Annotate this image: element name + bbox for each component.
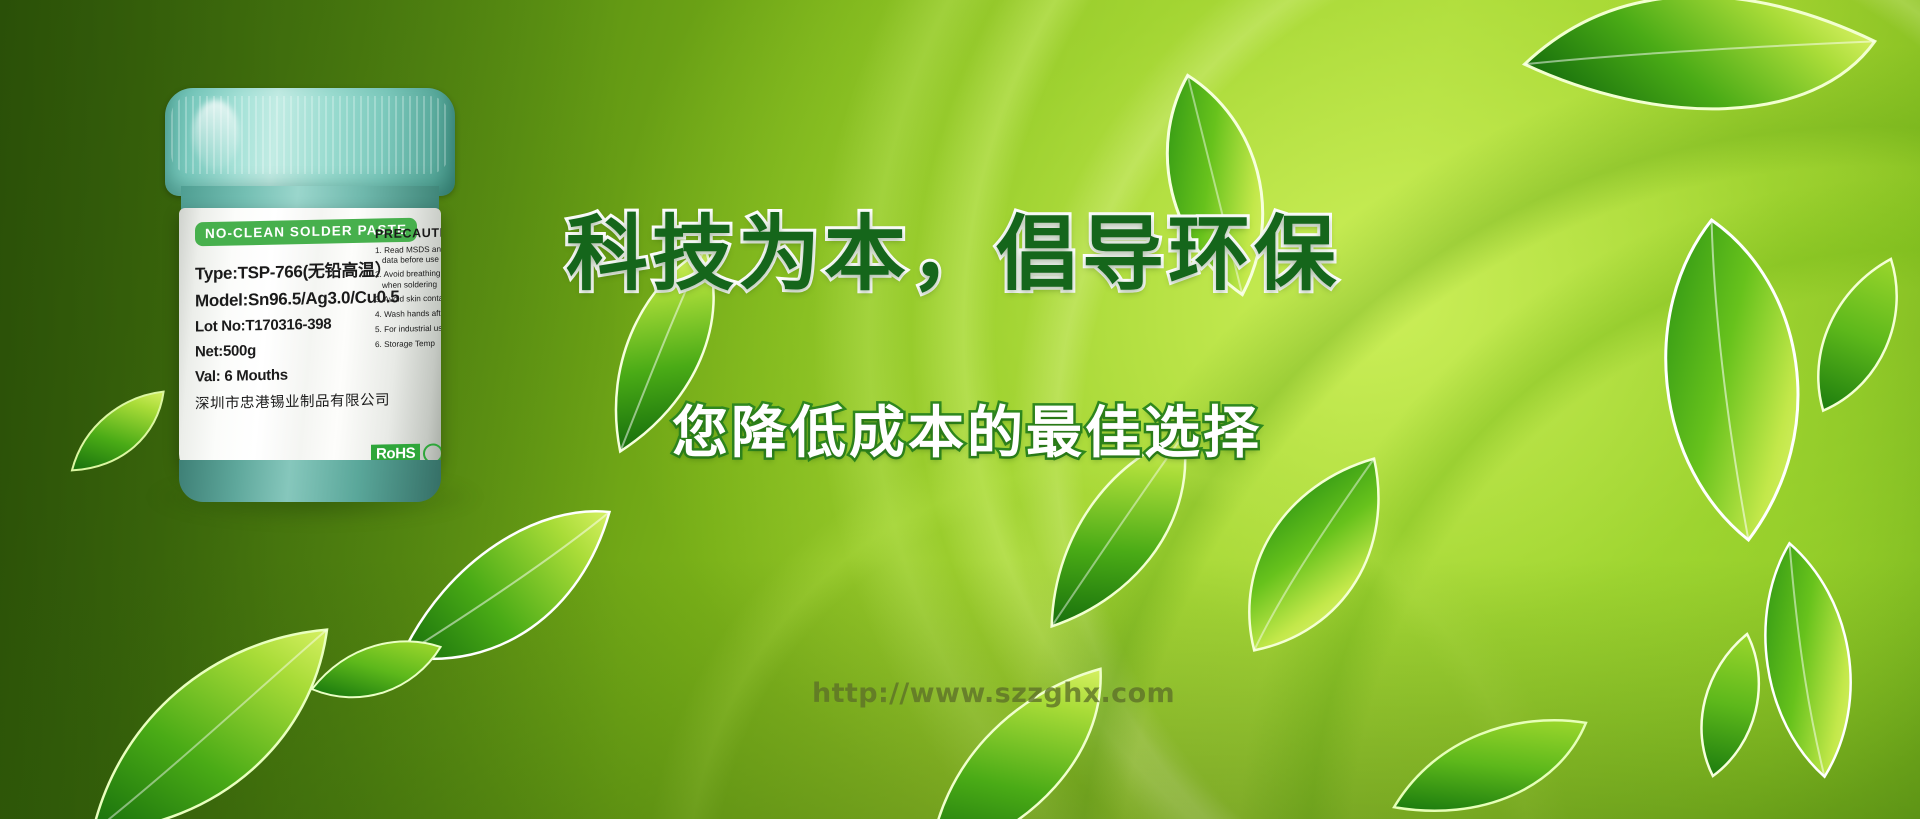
precaution-item: 2. Avoid breathing <box>375 268 441 281</box>
banner-subheadline: 您降低成本的最佳选择 <box>672 406 1262 462</box>
precaution-item: 3. Avoid skin contact <box>375 292 441 305</box>
precaution-cont: when soldering <box>382 278 441 289</box>
precaution-text: For industrial use <box>384 324 441 334</box>
product-label: NO-CLEAN SOLDER PASTE Type:TSP-766(无铅高温）… <box>179 208 441 476</box>
promotional-banner: NO-CLEAN SOLDER PASTE Type:TSP-766(无铅高温）… <box>0 0 1920 819</box>
precaution-number: 2. <box>375 270 382 279</box>
product-jar: NO-CLEAN SOLDER PASTE Type:TSP-766(无铅高温）… <box>163 88 463 488</box>
precaution-text: Avoid breathing <box>384 269 441 279</box>
precaution-number: 1. <box>375 246 382 255</box>
jar-base <box>179 460 441 502</box>
jar-cap <box>165 88 455 196</box>
label-precautions: PRECAUTIONS 1. Read MSDS and data before… <box>375 225 441 476</box>
precaution-text: Read MSDS and <box>384 245 441 255</box>
precaution-text: Wash hands after <box>384 308 441 318</box>
jar-body: NO-CLEAN SOLDER PASTE Type:TSP-766(无铅高温）… <box>179 208 441 476</box>
precaution-number: 6. <box>375 340 382 349</box>
precaution-number: 4. <box>375 310 382 319</box>
precaution-item: 5. For industrial use <box>375 323 441 336</box>
precaution-number: 3. <box>375 295 382 304</box>
precautions-title: PRECAUTIONS <box>375 225 441 241</box>
precaution-text: Avoid skin contact <box>384 293 441 303</box>
leaf-decoration <box>1389 695 1591 819</box>
banner-headline: 科技为本，倡导环保 <box>566 214 1340 296</box>
precaution-item: 6. Storage Temp <box>375 338 441 351</box>
precaution-cont: data before use <box>382 254 441 265</box>
cap-highlight <box>193 100 239 170</box>
leaf-decoration <box>1515 0 1885 179</box>
precaution-number: 5. <box>375 325 382 334</box>
precaution-item: 4. Wash hands after <box>375 308 441 321</box>
leaf-decoration <box>73 625 346 819</box>
precaution-text: Storage Temp <box>384 339 435 349</box>
website-url: http://www.szzghx.com <box>812 678 1175 709</box>
